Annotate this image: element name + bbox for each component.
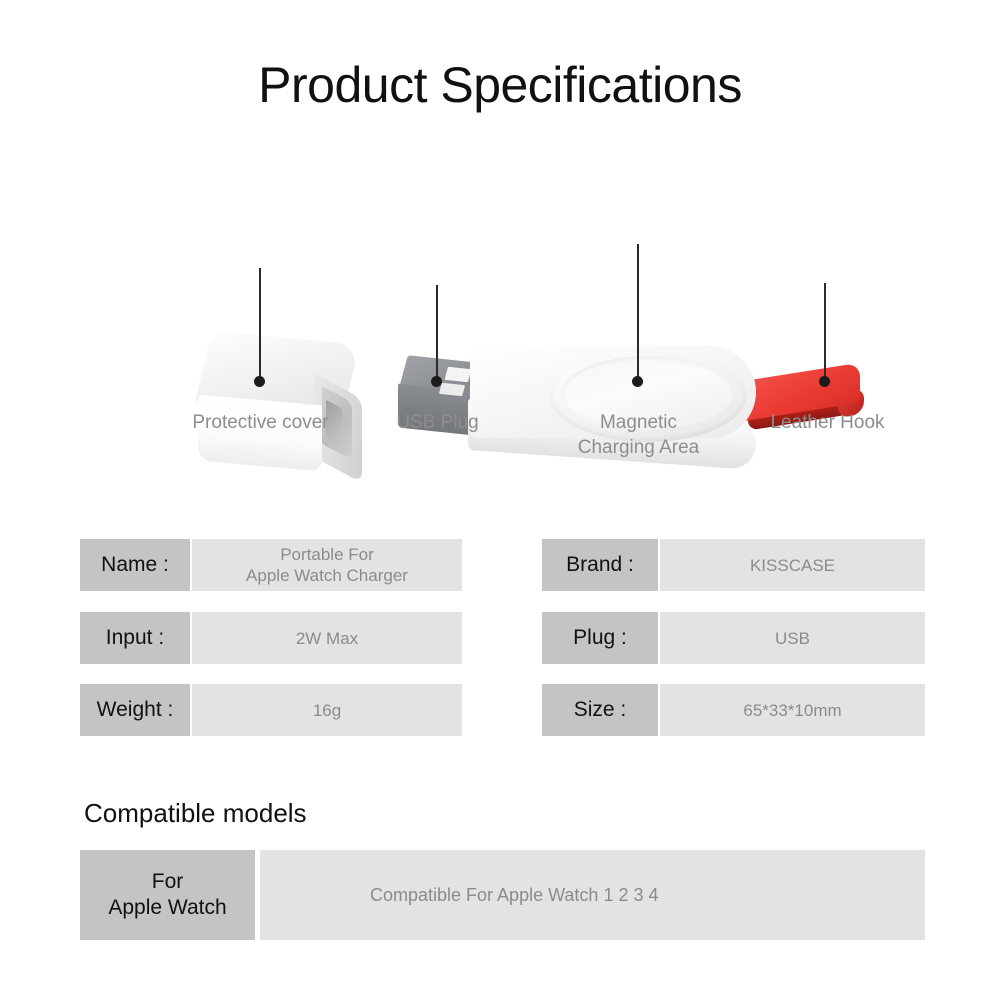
compatible-models-heading: Compatible models bbox=[84, 798, 307, 829]
product-spec-page: Product Specifications bbox=[0, 0, 1000, 1000]
callout-label-protective-cover: Protective cover bbox=[178, 410, 343, 435]
spec-value-brand: KISSCASE bbox=[660, 539, 925, 591]
spec-label-size: Size : bbox=[542, 684, 658, 736]
callout-label-usb-plug: USB Plug bbox=[370, 410, 505, 435]
compatible-value-models: Compatible For Apple Watch 1 2 3 4 bbox=[260, 850, 925, 940]
callout-label-magnetic-area: Magnetic Charging Area bbox=[556, 410, 721, 460]
spec-row-weight: Weight : 16g bbox=[80, 684, 462, 736]
compatible-label-apple-watch: For Apple Watch bbox=[80, 850, 255, 940]
spec-value-size: 65*33*10mm bbox=[660, 684, 925, 736]
spec-label-name: Name : bbox=[80, 539, 190, 591]
spec-row-brand: Brand : KISSCASE bbox=[542, 539, 925, 591]
callout-label-leather-hook: Leather Hook bbox=[745, 410, 910, 435]
spec-label-input: Input : bbox=[80, 612, 190, 664]
spec-value-input: 2W Max bbox=[192, 612, 462, 664]
spec-value-weight: 16g bbox=[192, 684, 462, 736]
product-illustration bbox=[0, 150, 1000, 400]
callout-dot-leather-hook bbox=[819, 376, 830, 387]
callout-dot-magnetic-area bbox=[632, 376, 643, 387]
spec-label-weight: Weight : bbox=[80, 684, 190, 736]
callout-line-magnetic-area bbox=[637, 244, 639, 378]
callout-line-usb-plug bbox=[436, 285, 438, 378]
spec-row-name: Name : Portable For Apple Watch Charger bbox=[80, 539, 462, 591]
compatible-models-row: For Apple Watch Compatible For Apple Wat… bbox=[80, 850, 925, 940]
callout-dot-protective-cover bbox=[254, 376, 265, 387]
spec-label-brand: Brand : bbox=[542, 539, 658, 591]
page-title: Product Specifications bbox=[0, 56, 1000, 114]
spec-value-plug: USB bbox=[660, 612, 925, 664]
spec-value-name: Portable For Apple Watch Charger bbox=[192, 539, 462, 591]
spec-label-plug: Plug : bbox=[542, 612, 658, 664]
callout-line-protective-cover bbox=[259, 268, 261, 378]
spec-row-size: Size : 65*33*10mm bbox=[542, 684, 925, 736]
spec-row-input: Input : 2W Max bbox=[80, 612, 462, 664]
callout-dot-usb-plug bbox=[431, 376, 442, 387]
callout-line-leather-hook bbox=[824, 283, 826, 378]
spec-row-plug: Plug : USB bbox=[542, 612, 925, 664]
